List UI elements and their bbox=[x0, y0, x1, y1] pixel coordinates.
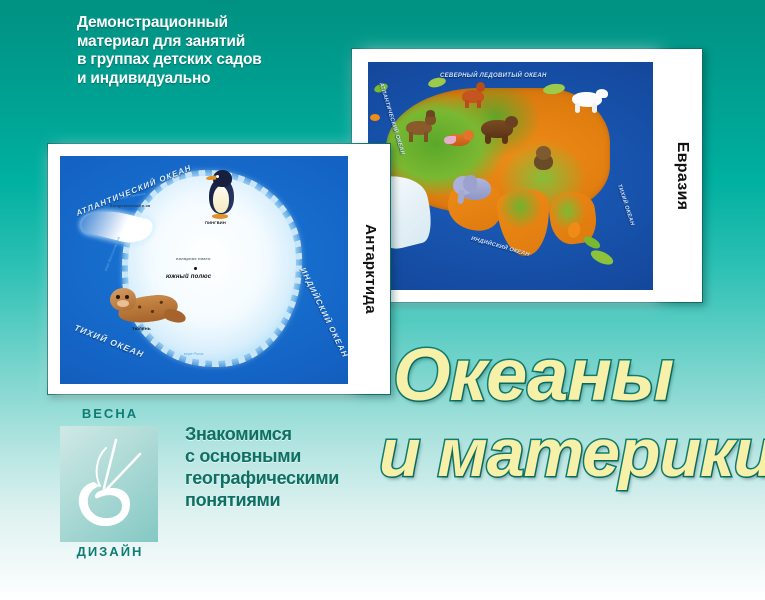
island-shape bbox=[370, 114, 380, 121]
header-line-4: и индивидуально bbox=[77, 70, 262, 89]
label-antarctic-peninsula: Антарктический п-ов bbox=[110, 204, 150, 208]
label-indian-ocean: ИНДИЙСКИЙ ОКЕАН bbox=[297, 266, 348, 360]
logo-mark-icon bbox=[64, 434, 156, 538]
south-pole-marker bbox=[194, 267, 197, 270]
logo-bottom-text: ДИЗАЙН bbox=[56, 544, 164, 559]
camel-icon bbox=[460, 80, 488, 108]
label-ross-sea: море Росса bbox=[184, 352, 203, 356]
card-eurasia[interactable]: СЕВЕРНЫЙ ЛЕДОВИТЫЙ ОКЕАН АТЛАНТИЧЕСКИЙ О… bbox=[351, 48, 703, 303]
header-line-2: материал для занятий bbox=[77, 33, 262, 52]
moose-icon bbox=[404, 110, 438, 142]
polar-bear-icon bbox=[568, 88, 608, 114]
card-label-eurasia: Евразия bbox=[673, 141, 691, 210]
header-line-3: в группах детских садов bbox=[77, 51, 262, 70]
island-shape bbox=[589, 247, 615, 267]
label-penguin: ПИНГВИН bbox=[205, 220, 226, 225]
title-line-2: и материки bbox=[379, 414, 765, 492]
label-pacific-ocean: ТИХИЙ ОКЕАН bbox=[616, 184, 635, 227]
fox-icon bbox=[444, 128, 476, 152]
label-south-pole: южный полюс bbox=[166, 274, 211, 280]
subtitle-block: Знакомимся с основными географическими п… bbox=[185, 423, 339, 511]
card-antarctica[interactable]: АТЛАНТИЧЕСКИЙ ОКЕАН ТИХИЙ ОКЕАН ИНДИЙСКИ… bbox=[47, 143, 391, 395]
label-seal: ТЮЛЕНЬ bbox=[132, 326, 151, 331]
label-bellingshausen-sea: море Беллинсгаузена bbox=[104, 236, 121, 271]
subtitle-line-1: Знакомимся bbox=[185, 423, 339, 445]
antarctica-map-image: АТЛАНТИЧЕСКИЙ ОКЕАН ТИХИЙ ОКЕАН ИНДИЙСКИ… bbox=[60, 156, 348, 384]
header-text-block: Демонстрационный материал для занятий в … bbox=[77, 14, 262, 88]
label-polar-plateau: полярное плато bbox=[176, 256, 211, 261]
island-shape bbox=[582, 234, 602, 251]
page-title: Океаны и материки bbox=[393, 336, 765, 516]
subtitle-line-2: с основными bbox=[185, 445, 339, 467]
publisher-logo[interactable]: ВЕСНА ДИЗАЙН bbox=[56, 404, 164, 564]
seal-icon bbox=[110, 286, 188, 328]
brown-bear-icon bbox=[478, 114, 518, 144]
card-label-antarctica: Антарктида bbox=[362, 224, 379, 314]
title-line-1: Океаны bbox=[393, 336, 765, 414]
eurasia-map-image: СЕВЕРНЫЙ ЛЕДОВИТЫЙ ОКЕАН АТЛАНТИЧЕСКИЙ О… bbox=[368, 62, 653, 290]
logo-top-text: ВЕСНА bbox=[56, 406, 164, 421]
panda-icon bbox=[531, 146, 557, 172]
penguin-icon bbox=[206, 170, 240, 220]
elephant-icon bbox=[453, 170, 497, 206]
label-arctic-ocean: СЕВЕРНЫЙ ЛЕДОВИТЫЙ ОКЕАН bbox=[440, 72, 547, 80]
subtitle-line-4: понятиями bbox=[185, 489, 339, 511]
header-line-1: Демонстрационный bbox=[77, 14, 262, 33]
subtitle-line-3: географическими bbox=[185, 467, 339, 489]
